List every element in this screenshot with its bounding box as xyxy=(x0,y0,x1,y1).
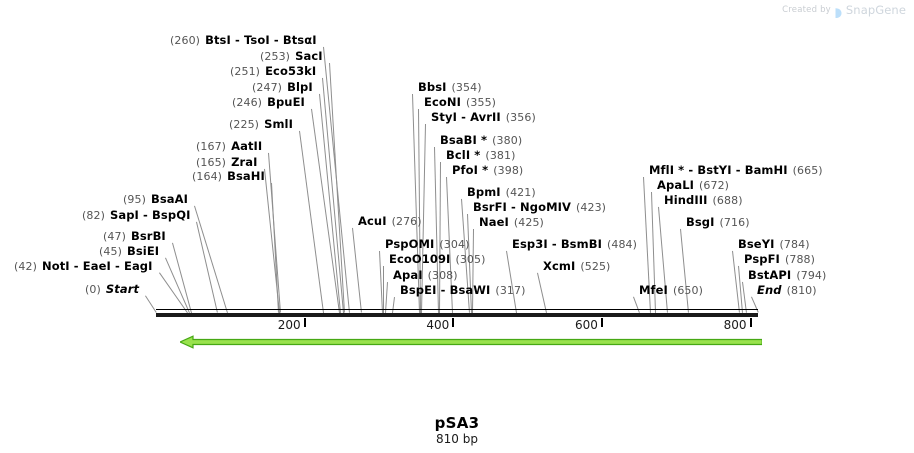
name-separator: - xyxy=(732,163,745,177)
star-marker: * xyxy=(674,163,684,177)
site-label-apali[interactable]: ApaLI(672) xyxy=(657,179,729,192)
site-position: (794) xyxy=(796,269,826,282)
site-position: (247) xyxy=(252,81,282,94)
enzyme-name: BseYI xyxy=(738,237,775,251)
site-position: (650) xyxy=(673,284,703,297)
site-label-pfoi[interactable]: PfoI *(398) xyxy=(452,164,523,177)
enzyme-name: BpmI xyxy=(467,185,501,199)
enzyme-name: BclI xyxy=(446,148,470,162)
ruler-thin-line xyxy=(156,309,758,310)
ruler-tick xyxy=(304,318,306,327)
leader-line-end xyxy=(751,297,759,313)
enzyme-name: AvrII xyxy=(470,110,501,124)
site-label-end[interactable]: End(810) xyxy=(757,284,817,297)
watermark-brand-label: SnapGene xyxy=(846,3,906,17)
site-position: (251) xyxy=(230,65,260,78)
enzyme-name: BsmBI xyxy=(561,237,602,251)
enzyme-name: StyI xyxy=(431,110,457,124)
enzyme-name: TsoI xyxy=(244,33,270,47)
enzyme-name: EcoO109I xyxy=(389,252,450,266)
site-position: (784) xyxy=(780,238,810,251)
site-position: (304) xyxy=(439,238,469,251)
enzyme-name: EaeI xyxy=(83,259,111,273)
enzyme-name: SmlI xyxy=(264,117,293,131)
site-position: (165) xyxy=(196,156,226,169)
site-position: (398) xyxy=(493,164,523,177)
plasmid-name: pSA3 xyxy=(0,414,914,432)
site-position: (355) xyxy=(466,96,496,109)
enzyme-name: PspOMI xyxy=(385,237,434,251)
enzyme-name: BtsI xyxy=(205,33,231,47)
name-separator: - xyxy=(457,110,470,124)
site-position: (484) xyxy=(607,238,637,251)
ruler-bar xyxy=(156,313,758,317)
site-label-bsahi[interactable]: (164)BsaHI xyxy=(192,170,265,183)
site-label-naei[interactable]: NaeI(425) xyxy=(479,216,544,229)
site-label-econi[interactable]: EcoNI(355) xyxy=(424,96,496,109)
enzyme-name: PfoI xyxy=(452,163,478,177)
leader-line-ecoo109i xyxy=(383,266,384,313)
name-separator: - xyxy=(139,208,152,222)
site-position: (260) xyxy=(170,34,200,47)
ruler-tick-label: 400 xyxy=(401,318,449,332)
ruler-tick-label: 800 xyxy=(699,318,747,332)
enzyme-name: BspQI xyxy=(152,208,190,222)
enzyme-name: BsiEI xyxy=(127,244,159,258)
site-position: (421) xyxy=(506,186,536,199)
site-label-smli[interactable]: (225)SmlI xyxy=(229,118,293,131)
site-label-bbsi[interactable]: BbsI(354) xyxy=(418,81,482,94)
site-label-styi-avrii[interactable]: StyI - AvrII(356) xyxy=(431,111,536,124)
site-position: (354) xyxy=(452,81,482,94)
name-separator: - xyxy=(270,33,283,47)
site-position: (167) xyxy=(196,140,226,153)
name-separator: - xyxy=(70,259,83,273)
site-label-mfei[interactable]: MfeI(650) xyxy=(639,284,703,297)
ruler-tick xyxy=(452,318,454,327)
site-label-hindiii[interactable]: HindIII(688) xyxy=(664,194,743,207)
site-position: (665) xyxy=(793,164,823,177)
enzyme-name: Esp3I xyxy=(512,237,548,251)
leader-line-esp3i-bsmbi xyxy=(506,251,517,313)
name-separator: - xyxy=(436,283,449,297)
site-label-ecoo109i[interactable]: EcoO109I(305) xyxy=(389,253,486,266)
star-marker: * xyxy=(470,148,480,162)
site-label-bsrfi-ngomiv[interactable]: BsrFI - NgoMIV(423) xyxy=(473,201,606,214)
site-label-pspomi[interactable]: PspOMI(304) xyxy=(385,238,470,251)
ruler-tick-label: 200 xyxy=(253,318,301,332)
name-separator: - xyxy=(231,33,244,47)
enzyme-name: SacI xyxy=(295,49,323,63)
enzyme-name: MflI xyxy=(649,163,674,177)
reverse-feature-arrow[interactable] xyxy=(180,334,762,348)
site-position: (525) xyxy=(580,260,610,273)
snapgene-leaf-icon xyxy=(835,4,842,16)
site-position: (425) xyxy=(514,216,544,229)
site-position: (164) xyxy=(192,170,222,183)
leader-line-bsaai xyxy=(194,206,228,313)
site-position: (688) xyxy=(713,194,743,207)
enzyme-name: SapI xyxy=(110,208,139,222)
site-position: (253) xyxy=(260,50,290,63)
site-position: (380) xyxy=(492,134,522,147)
enzyme-name: NgoMIV xyxy=(520,200,571,214)
enzyme-name: BlpI xyxy=(287,80,313,94)
leader-line-bspei-bsawi xyxy=(392,297,395,313)
enzyme-name: BsrBI xyxy=(131,229,166,243)
site-position: (276) xyxy=(392,215,422,228)
enzyme-name: BspEI xyxy=(400,283,436,297)
enzyme-name: Start xyxy=(106,282,139,296)
site-position: (45) xyxy=(99,245,122,258)
enzyme-name: AatII xyxy=(231,139,262,153)
site-label-sapi-bspqi[interactable]: (82)SapI - BspQI xyxy=(82,209,190,222)
site-label-bseyi[interactable]: BseYI(784) xyxy=(738,238,810,251)
site-label-esp3i-bsmbi[interactable]: Esp3I - BsmBI(484) xyxy=(512,238,637,251)
site-label-acui[interactable]: AcuI(276) xyxy=(358,215,422,228)
enzyme-name: ApaLI xyxy=(657,178,694,192)
site-position: (0) xyxy=(85,283,101,296)
site-label-bsgi[interactable]: BsgI(716) xyxy=(686,216,750,229)
site-position: (95) xyxy=(123,193,146,206)
plasmid-length: 810 bp xyxy=(0,432,914,446)
site-position: (810) xyxy=(787,284,817,297)
leader-line-hindiii xyxy=(658,207,668,313)
site-label-bspei-bsawi[interactable]: BspEI - BsaWI(317) xyxy=(400,284,526,297)
name-separator: - xyxy=(548,237,561,251)
leader-line-acui xyxy=(352,228,362,313)
leader-line-xcmi xyxy=(537,273,547,313)
enzyme-name: ZraI xyxy=(231,155,257,169)
site-position: (225) xyxy=(229,118,259,131)
enzyme-name: EcoNI xyxy=(424,95,461,109)
site-position: (42) xyxy=(14,260,37,273)
plasmid-map-canvas: Created by SnapGene (0)Start(42)NotI - E… xyxy=(0,0,914,453)
site-label-apai[interactable]: ApaI(308) xyxy=(393,269,458,282)
star-marker: * xyxy=(478,163,488,177)
site-label-xcmi[interactable]: XcmI(525) xyxy=(543,260,610,273)
enzyme-name: EagI xyxy=(124,259,153,273)
site-label-eco53ki[interactable]: (251)Eco53kI xyxy=(230,65,316,78)
site-position: (381) xyxy=(485,149,515,162)
enzyme-name: BstAPI xyxy=(748,268,791,282)
enzyme-name: Eco53kI xyxy=(265,64,316,78)
site-position: (788) xyxy=(785,253,815,266)
site-position: (672) xyxy=(699,179,729,192)
site-label-bpuei[interactable]: (246)BpuEI xyxy=(232,96,305,109)
enzyme-name: BpuEI xyxy=(267,95,305,109)
leader-line-sapi-bspqi xyxy=(196,222,218,313)
leader-line-bsgi xyxy=(680,229,689,313)
enzyme-name: BsaHI xyxy=(227,169,265,183)
name-separator: - xyxy=(111,259,124,273)
enzyme-name: NotI xyxy=(42,259,70,273)
enzyme-name: BsaAI xyxy=(151,192,188,206)
leader-line-smli xyxy=(299,131,324,313)
site-label-saci[interactable]: (253)SacI xyxy=(260,50,323,63)
enzyme-name: AcuI xyxy=(358,214,387,228)
snapgene-watermark: Created by SnapGene xyxy=(782,2,906,18)
star-marker: * xyxy=(477,133,487,147)
site-position: (82) xyxy=(82,209,105,222)
name-separator: - xyxy=(684,163,697,177)
site-label-bpmi[interactable]: BpmI(421) xyxy=(467,186,536,199)
enzyme-name: BbsI xyxy=(418,80,447,94)
site-position: (423) xyxy=(576,201,606,214)
site-label-pspfi[interactable]: PspFI(788) xyxy=(744,253,815,266)
leader-line-start xyxy=(145,295,157,313)
ruler-tick xyxy=(750,318,752,327)
site-position: (317) xyxy=(495,284,525,297)
enzyme-name: BstYI xyxy=(697,163,731,177)
name-separator: - xyxy=(507,200,520,214)
leader-line-naei xyxy=(472,229,474,313)
site-label-bsrbi[interactable]: (47)BsrBI xyxy=(103,230,166,243)
site-label-zrai[interactable]: (165)ZraI xyxy=(196,156,258,169)
leader-line-mfei xyxy=(633,297,640,313)
site-label-bcli[interactable]: BclI *(381) xyxy=(446,149,516,162)
site-label-bstapi[interactable]: BstAPI(794) xyxy=(748,269,826,282)
enzyme-name: BsaWI xyxy=(450,283,491,297)
enzyme-name: XcmI xyxy=(543,259,575,273)
site-position: (356) xyxy=(506,111,536,124)
site-label-aatii[interactable]: (167)AatII xyxy=(196,140,262,153)
site-position: (716) xyxy=(720,216,750,229)
site-position: (305) xyxy=(455,253,485,266)
enzyme-name: BtsαI xyxy=(283,33,317,47)
enzyme-name: BsrFI xyxy=(473,200,507,214)
ruler-tick xyxy=(601,318,603,327)
site-label-noti-eaei-eagi[interactable]: (42)NotI - EaeI - EagI xyxy=(14,260,153,273)
enzyme-name: BsaBI xyxy=(440,133,477,147)
enzyme-name: BamHI xyxy=(745,163,788,177)
site-position: (47) xyxy=(103,230,126,243)
site-label-blpi[interactable]: (247)BlpI xyxy=(252,81,313,94)
enzyme-name: PspFI xyxy=(744,252,780,266)
site-label-bsiei[interactable]: (45)BsiEI xyxy=(99,245,159,258)
site-label-bsabi[interactable]: BsaBI *(380) xyxy=(440,134,522,147)
site-position: (308) xyxy=(428,269,458,282)
enzyme-name: HindIII xyxy=(664,193,708,207)
leader-line-bpuei xyxy=(311,109,340,313)
site-label-start[interactable]: (0)Start xyxy=(85,283,139,296)
enzyme-name: End xyxy=(757,283,782,297)
ruler-tick-label: 600 xyxy=(550,318,598,332)
enzyme-name: ApaI xyxy=(393,268,423,282)
enzyme-name: MfeI xyxy=(639,283,668,297)
watermark-created-by-label: Created by xyxy=(782,5,831,15)
site-position: (246) xyxy=(232,96,262,109)
site-label-mfli-bstyi-bamhi[interactable]: MflI * - BstYI - BamHI(665) xyxy=(649,164,823,177)
site-label-bsaai[interactable]: (95)BsaAI xyxy=(123,193,188,206)
enzyme-name: BsgI xyxy=(686,215,715,229)
site-label-btsi-tsoi-btsai[interactable]: (260)BtsI - TsoI - BtsαI xyxy=(170,34,317,47)
enzyme-name: NaeI xyxy=(479,215,509,229)
